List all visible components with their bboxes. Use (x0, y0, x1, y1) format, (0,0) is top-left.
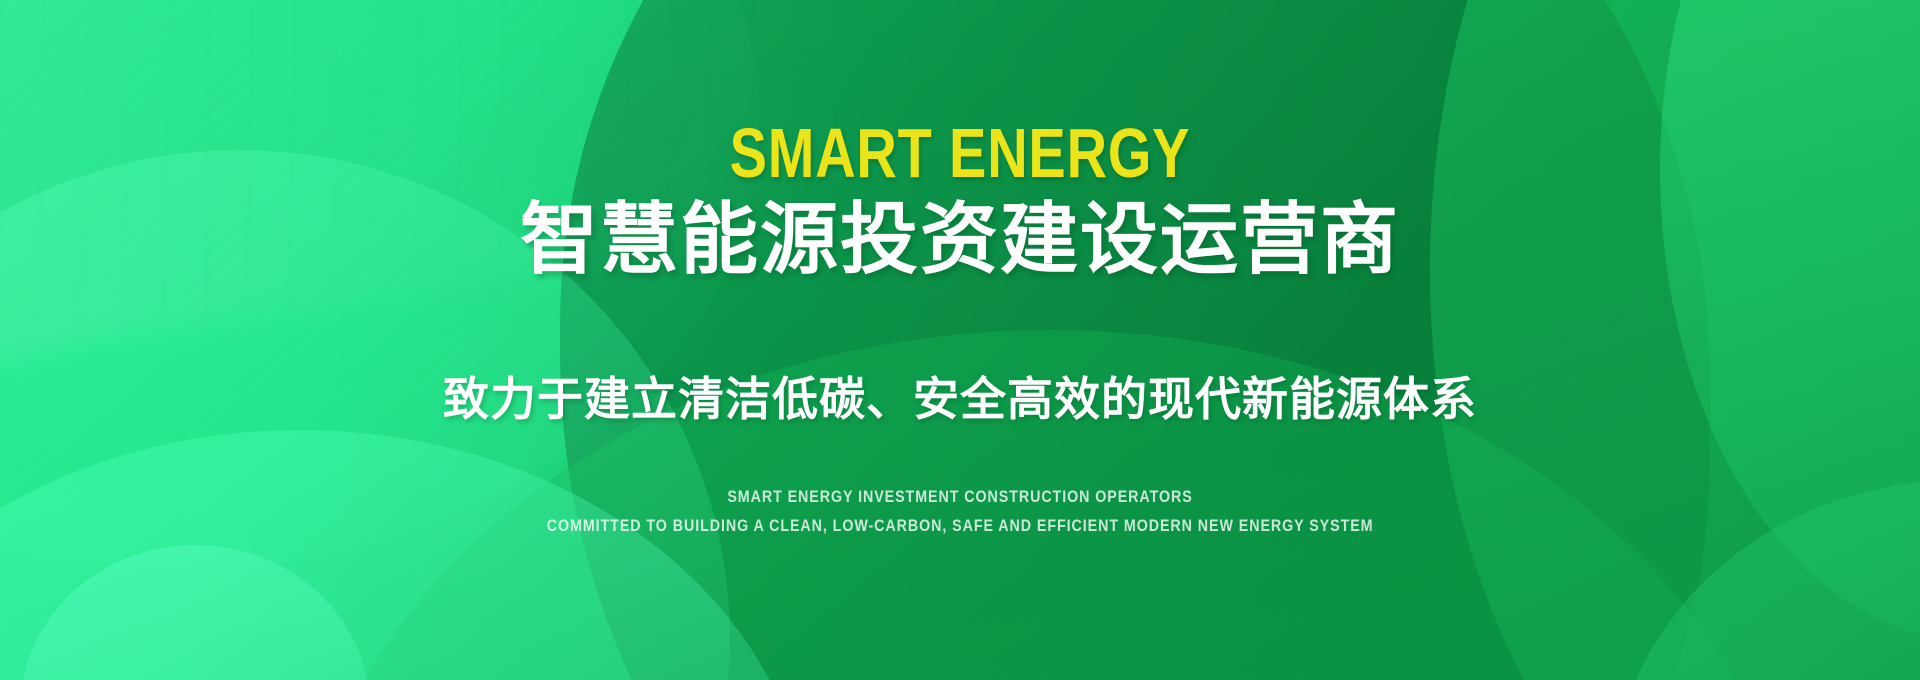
banner-minor-text-group: SMART ENERGY INVESTMENT CONSTRUCTION OPE… (468, 486, 1452, 538)
banner-subheadline: 致力于建立清洁低碳、安全高效的现代新能源体系 (443, 376, 1477, 422)
banner-eyebrow: SMART ENERGY (730, 118, 1191, 188)
banner-minor-line-2: COMMITTED TO BUILDING A CLEAN, LOW-CARBO… (547, 515, 1374, 538)
banner-minor-line-1: SMART ENERGY INVESTMENT CONSTRUCTION OPE… (727, 486, 1192, 509)
smart-energy-banner: SMART ENERGY 智慧能源投资建设运营商 致力于建立清洁低碳、安全高效的… (0, 0, 1920, 680)
banner-content: SMART ENERGY 智慧能源投资建设运营商 致力于建立清洁低碳、安全高效的… (0, 0, 1920, 680)
banner-headline: 智慧能源投资建设运营商 (520, 200, 1400, 278)
